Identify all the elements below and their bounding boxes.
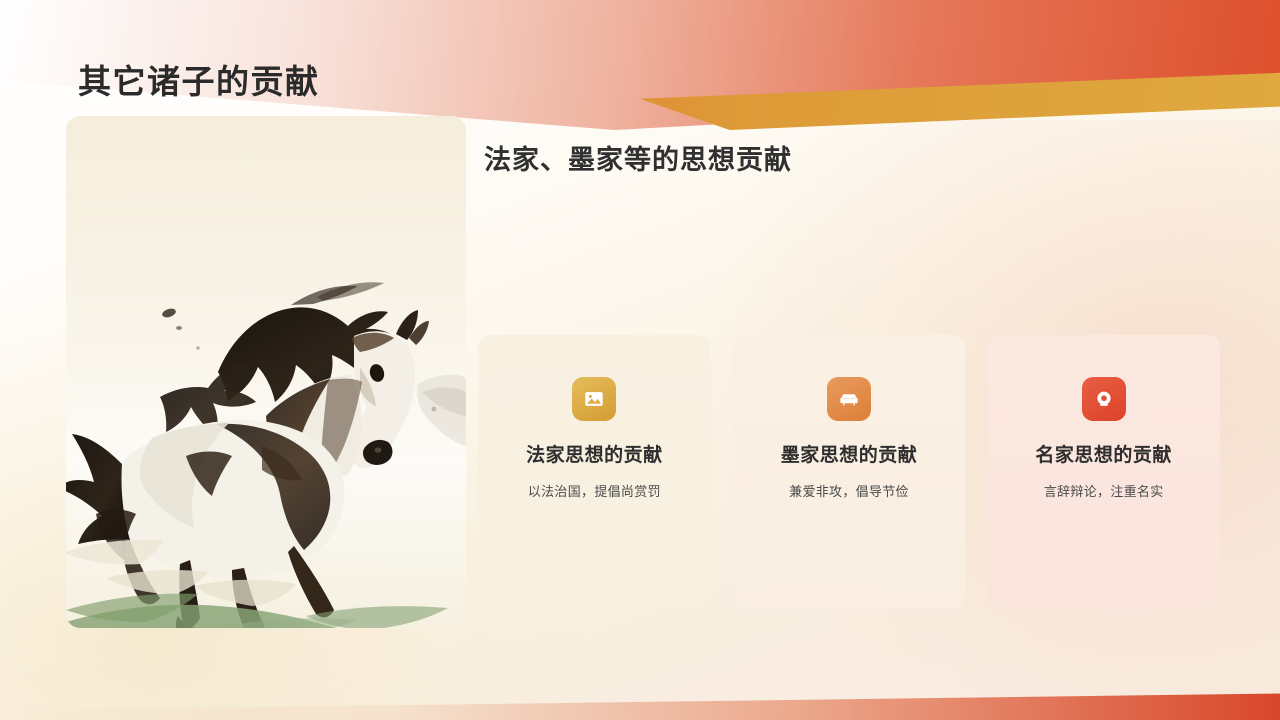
card-title: 名家思想的贡献 xyxy=(1035,440,1172,467)
card-title: 法家思想的贡献 xyxy=(526,440,663,467)
armchair-icon xyxy=(827,377,871,421)
page-title: 其它诸子的贡献 xyxy=(78,55,320,103)
card-title: 墨家思想的贡献 xyxy=(781,440,918,467)
contribution-cards: 法家思想的贡献 以法治国，提倡尚赏罚 墨家思想的贡献 兼爱非攻，倡导节俭 xyxy=(478,335,1220,609)
card-legalism[interactable]: 法家思想的贡献 以法治国，提倡尚赏罚 xyxy=(478,335,711,609)
decor-ribbon-bottom xyxy=(0,686,1280,720)
section-subtitle: 法家、墨家等的思想贡献 xyxy=(484,138,792,177)
hero-image-panel xyxy=(66,116,466,628)
card-description: 言辞辩论，注重名实 xyxy=(1044,481,1164,500)
card-description: 以法治国，提倡尚赏罚 xyxy=(528,481,661,500)
card-school-of-names[interactable]: 名家思想的贡献 言辞辩论，注重名实 xyxy=(987,335,1220,609)
image-icon xyxy=(572,377,616,421)
ink-wash-horse-illustration xyxy=(66,116,466,628)
slide-canvas: 其它诸子的贡献 xyxy=(0,0,1280,720)
camera-lens-icon xyxy=(1082,377,1126,421)
card-mohism[interactable]: 墨家思想的贡献 兼爱非攻，倡导节俭 xyxy=(733,335,966,609)
card-description: 兼爱非攻，倡导节俭 xyxy=(789,481,909,500)
